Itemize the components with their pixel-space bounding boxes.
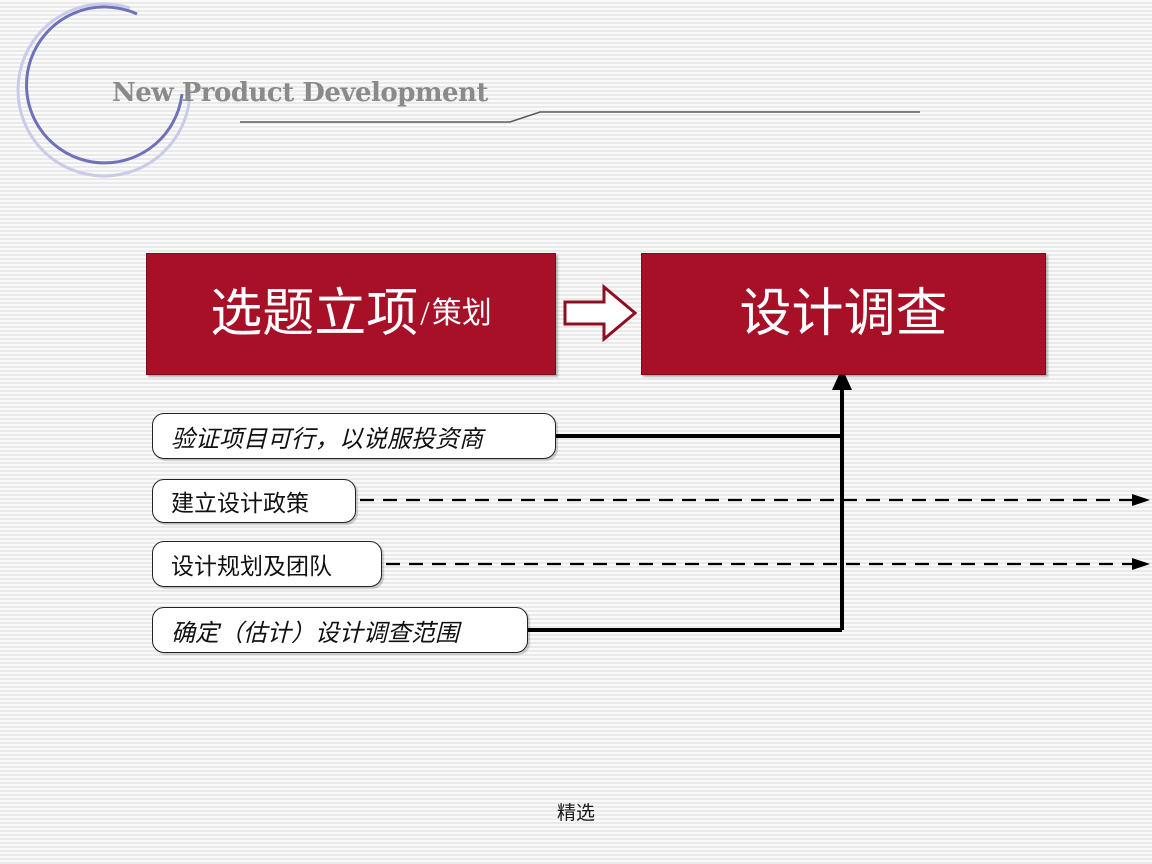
task-box-2-label: 设计规划及团队 bbox=[171, 547, 332, 581]
stage-box-survey-main-label: 设计调查 bbox=[739, 288, 947, 340]
task-box-1[interactable]: 建立设计政策 bbox=[152, 479, 356, 523]
slide-canvas: New Product Development 选题立项 / 策划 设计调查 验… bbox=[0, 0, 1152, 864]
footer-text: 精选 bbox=[0, 798, 1152, 825]
task-box-1-label: 建立设计政策 bbox=[171, 484, 309, 518]
stage-box-design-survey[interactable]: 设计调查 bbox=[641, 253, 1046, 375]
stage-box-topic-sub-label: 策划 bbox=[432, 299, 492, 329]
header-rule bbox=[240, 110, 920, 124]
task-box-0[interactable]: 验证项目可行，以说服投资商 bbox=[152, 413, 556, 459]
right-arrow-icon bbox=[562, 282, 638, 344]
task-box-0-label: 验证项目可行，以说服投资商 bbox=[171, 419, 483, 454]
task-box-2[interactable]: 设计规划及团队 bbox=[152, 541, 382, 587]
task-box-3-label: 确定（估计）设计调查范围 bbox=[171, 613, 459, 648]
page-title: New Product Development bbox=[112, 78, 488, 108]
stage-box-topic-planning[interactable]: 选题立项 / 策划 bbox=[146, 253, 556, 375]
task-box-3[interactable]: 确定（估计）设计调查范围 bbox=[152, 607, 528, 653]
stage-box-topic-main-label: 选题立项 bbox=[210, 288, 418, 340]
stage-box-topic-slash: / bbox=[418, 295, 431, 333]
